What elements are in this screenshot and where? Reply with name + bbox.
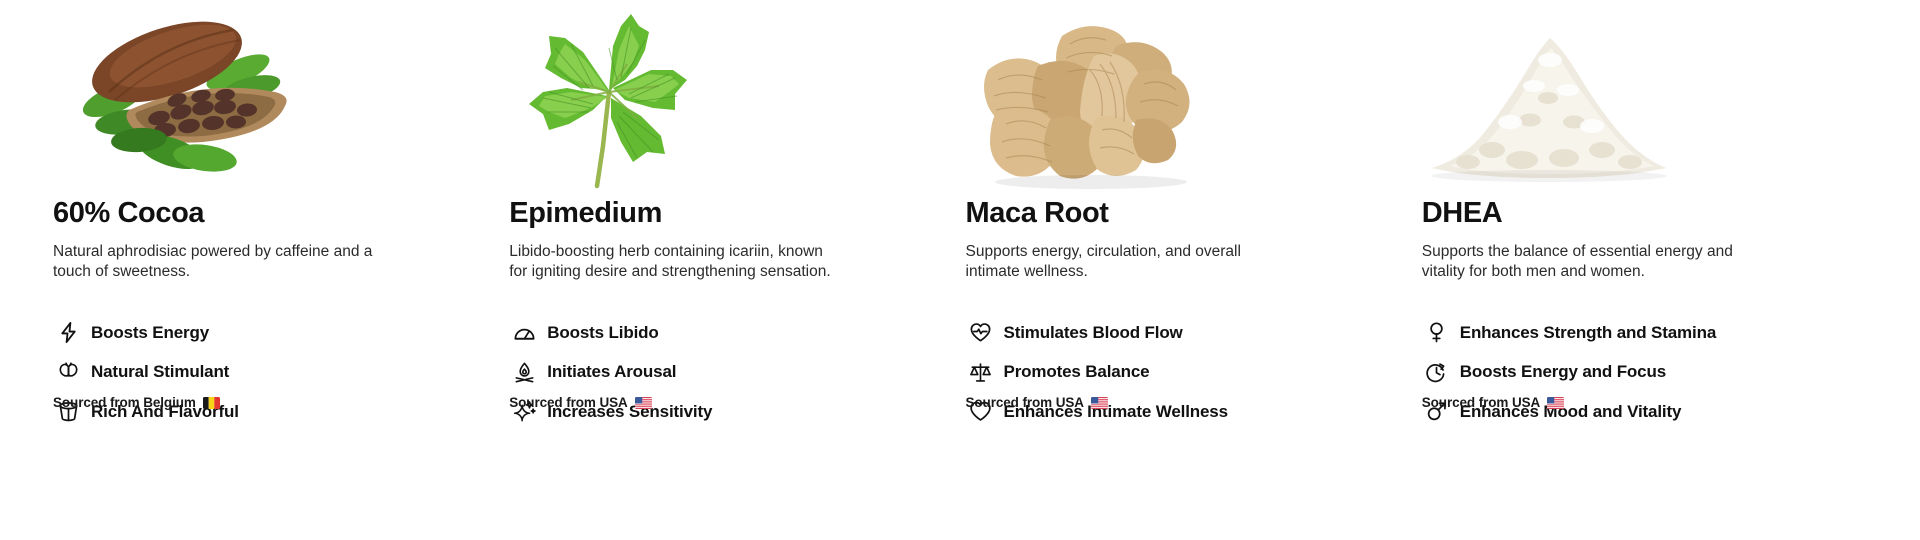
butterfly-icon: [53, 357, 83, 387]
sourced-row: Sourced from USA: [509, 395, 651, 410]
card-description: Supports energy, circulation, and overal…: [966, 242, 1296, 283]
usa-flag-icon: [1091, 397, 1108, 409]
ingredient-card-dhea: DHEA Supports the balance of essential e…: [1422, 0, 1878, 540]
venus-symbol-icon: [1422, 318, 1452, 348]
usa-flag-icon: [635, 397, 652, 409]
card-description: Supports the balance of essential energy…: [1422, 242, 1752, 283]
card-description: Libido-boosting herb containing icariin,…: [509, 242, 839, 283]
feature-item: Boosts Libido: [509, 313, 925, 353]
ingredients-comparison-grid: 60% Cocoa Natural aphrodisiac powered by…: [0, 0, 1920, 540]
feature-list: Boosts Libido Initiates Arousal: [509, 313, 925, 432]
feature-item: Enhances Strength and Stamina: [1422, 313, 1838, 353]
feature-item: Boosts Energy: [53, 313, 469, 353]
feature-label: Initiates Arousal: [547, 362, 676, 382]
sourced-row: Sourced from USA: [1422, 395, 1564, 410]
lightning-bolt-icon: [53, 318, 83, 348]
feature-item: Boosts Energy and Focus: [1422, 352, 1838, 392]
cocoa-pod-image: [53, 0, 469, 196]
feature-item: Promotes Balance: [966, 352, 1382, 392]
usa-flag-icon: [1547, 397, 1564, 409]
feature-item: Natural Stimulant: [53, 352, 469, 392]
feature-list: Stimulates Blood Flow Promotes Balance: [966, 313, 1382, 432]
sourced-label: Sourced from USA: [509, 395, 627, 410]
sourced-row: Sourced from Belgium: [53, 395, 220, 410]
sourced-label: Sourced from USA: [966, 395, 1084, 410]
gauge-icon: [509, 318, 539, 348]
feature-list: Boosts Energy Natural Stimulant: [53, 313, 469, 432]
belgium-flag-icon: [203, 397, 220, 409]
ingredient-card-cocoa: 60% Cocoa Natural aphrodisiac powered by…: [53, 0, 509, 540]
feature-label: Natural Stimulant: [91, 362, 229, 382]
card-title: 60% Cocoa: [53, 199, 469, 228]
feature-list: Enhances Strength and Stamina Boosts Ene…: [1422, 313, 1838, 432]
feature-item: Initiates Arousal: [509, 352, 925, 392]
feature-label: Boosts Energy: [91, 323, 209, 343]
card-title: Epimedium: [509, 199, 925, 228]
ingredient-card-maca-root: Maca Root Supports energy, circulation, …: [966, 0, 1422, 540]
card-description: Natural aphrodisiac powered by caffeine …: [53, 242, 383, 283]
maca-root-image: [966, 0, 1382, 196]
sourced-label: Sourced from Belgium: [53, 395, 196, 410]
heart-pulse-icon: [966, 318, 996, 348]
clock-arrow-icon: [1422, 357, 1452, 387]
campfire-icon: [509, 357, 539, 387]
feature-label: Promotes Balance: [1004, 362, 1150, 382]
feature-label: Boosts Energy and Focus: [1460, 362, 1666, 382]
feature-item: Stimulates Blood Flow: [966, 313, 1382, 353]
dhea-powder-image: [1422, 0, 1838, 196]
card-title: Maca Root: [966, 199, 1382, 228]
balance-scale-icon: [966, 357, 996, 387]
feature-label: Enhances Strength and Stamina: [1460, 323, 1716, 343]
feature-label: Boosts Libido: [547, 323, 658, 343]
sourced-label: Sourced from USA: [1422, 395, 1540, 410]
epimedium-leaf-image: [509, 0, 925, 196]
card-title: DHEA: [1422, 199, 1838, 228]
feature-label: Stimulates Blood Flow: [1004, 323, 1183, 343]
ingredient-card-epimedium: Epimedium Libido-boosting herb containin…: [509, 0, 965, 540]
sourced-row: Sourced from USA: [966, 395, 1108, 410]
